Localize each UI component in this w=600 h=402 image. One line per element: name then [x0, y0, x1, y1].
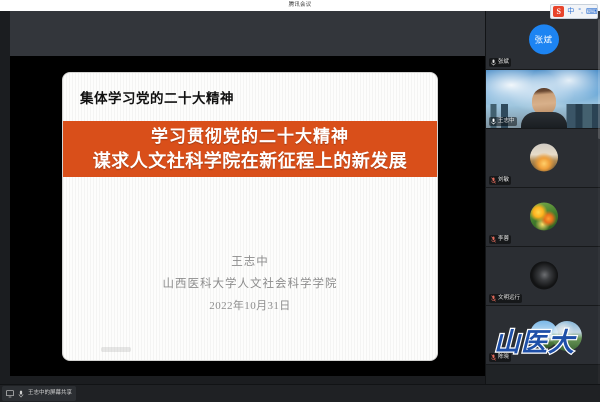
sogou-logo-icon[interactable]: S: [553, 6, 564, 17]
taskbar: 王志中的屏幕共享: [0, 384, 600, 402]
avatar-image: [530, 320, 558, 348]
participant-name-badge: 李蓉: [489, 235, 511, 244]
participant-name: 张斌: [498, 58, 509, 67]
monitor-icon: [6, 390, 14, 398]
banner-title-line-2: 谋求人文社科学院在新征程上的新发展: [93, 149, 408, 173]
ime-language-mode-button[interactable]: 中: [566, 6, 575, 17]
shared-screen-stage[interactable]: 集体学习党的二十大精神 学习贯彻党的二十大精神 谋求人文社科学院在新征程上的新发…: [10, 56, 485, 376]
participant-tile[interactable]: 文明远行: [486, 247, 600, 306]
avatar-image: [530, 202, 558, 230]
participant-name-badge: 张斌: [489, 58, 511, 67]
banner-title-line-1: 学习贯彻党的二十大精神: [151, 125, 349, 149]
participant-name: 李蓉: [498, 235, 509, 244]
slide-artifact-mark: [101, 347, 131, 352]
presenter-name: 王志中: [63, 251, 437, 273]
participant-name: 刘敏: [498, 176, 509, 185]
avatar-image: [530, 143, 558, 171]
avatar: [530, 202, 558, 230]
participant-name: 王志中: [498, 117, 515, 126]
participant-name-badge: 王志中: [489, 117, 517, 126]
slide-header-title: 集体学习党的二十大精神: [80, 90, 234, 107]
participant-tile[interactable]: 张斌 张斌: [486, 11, 600, 70]
participant-sidebar[interactable]: 张斌 张斌: [485, 11, 600, 385]
presenter-affiliation: 山西医科大学人文社会科学学院: [63, 273, 437, 295]
participant-tile[interactable]: 王志中: [486, 70, 600, 129]
taskbar-item-screen-share[interactable]: 王志中的屏幕共享: [2, 386, 76, 401]
screen-root: 腾讯会议 S 中 °, ⌨ 集体学习党的二十大精神 学习贯彻党的二十大精神 谋求…: [0, 0, 600, 402]
stage-top-band: [10, 11, 485, 56]
slide-footer-block: 王志中 山西医科大学人文社会科学学院 2022年10月31日: [63, 251, 437, 317]
os-titlebar: 腾讯会议: [0, 0, 600, 11]
mic-muted-icon: [491, 354, 496, 361]
mic-active-icon: [491, 118, 496, 125]
participant-name-badge: 文明远行: [489, 294, 522, 303]
avatar: 张斌: [529, 24, 559, 54]
window-title: 腾讯会议: [0, 1, 600, 10]
ime-punctuation-icon[interactable]: °,: [577, 6, 584, 17]
participant-name-badge: 刘敏: [489, 176, 511, 185]
slide-title-banner: 学习贯彻党的二十大精神 谋求人文社科学院在新征程上的新发展: [63, 121, 437, 177]
participant-tile[interactable]: 刘敏: [486, 129, 600, 188]
participant-name: 陈晓: [498, 353, 509, 362]
taskbar-item-label: 王志中的屏幕共享: [28, 389, 72, 398]
participant-name-badge: 陈晓: [489, 353, 511, 362]
ime-toolbar[interactable]: S 中 °, ⌨: [550, 4, 598, 19]
person-body: [521, 112, 567, 128]
avatar: [530, 320, 558, 348]
mic-muted-icon: [491, 236, 496, 243]
video-person: [521, 88, 567, 128]
mic-icon: [17, 390, 25, 398]
left-rail: [0, 11, 10, 385]
participant-name: 文明远行: [498, 294, 520, 303]
mic-muted-icon: [491, 59, 496, 66]
mic-muted-icon: [491, 295, 496, 302]
person-head: [532, 88, 556, 115]
avatar: [530, 143, 558, 171]
mic-muted-icon: [491, 177, 496, 184]
ime-keyboard-icon[interactable]: ⌨: [586, 7, 595, 16]
presentation-date: 2022年10月31日: [63, 295, 437, 317]
avatar-image: [530, 261, 558, 289]
avatar: [530, 261, 558, 289]
presentation-slide: 集体学习党的二十大精神 学习贯彻党的二十大精神 谋求人文社科学院在新征程上的新发…: [63, 73, 437, 360]
participant-tile[interactable]: 李蓉: [486, 188, 600, 247]
meeting-window: 集体学习党的二十大精神 学习贯彻党的二十大精神 谋求人文社科学院在新征程上的新发…: [0, 11, 600, 385]
participant-tile[interactable]: 陈晓: [486, 306, 600, 365]
